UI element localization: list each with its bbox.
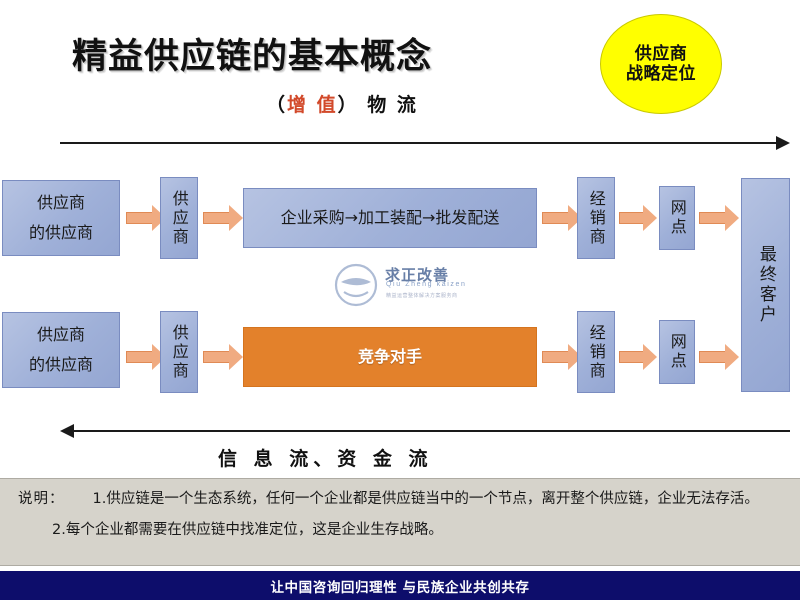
- subtitle-open-paren: （: [266, 94, 287, 116]
- connector-arrow-r2-2: [203, 344, 243, 370]
- connector-arrow-r1-4: [619, 205, 657, 231]
- watermark-tagline: 精益运营整体解决方案服务商: [386, 292, 458, 299]
- note-line-2: 2.每个企业都需要在供应链中找准定位，这是企业生存战略。: [18, 519, 786, 542]
- connector-arrow-tip: [229, 344, 243, 370]
- connector-arrow-body: [619, 351, 644, 363]
- node-competitor: 竞争对手: [243, 327, 537, 387]
- node-supplier-text: 供应商: [170, 190, 188, 247]
- material-flow-arrow-shaft: [60, 142, 778, 144]
- connector-arrow-body: [619, 212, 644, 224]
- node-final-customer: 最终客户: [741, 178, 790, 392]
- node-outlet-2-text: 网点: [668, 333, 686, 371]
- node-supplier: 供应商: [160, 177, 198, 259]
- node-supplier-2: 供应商: [160, 311, 198, 393]
- node-enterprise-process-text: 企业采购→加工装配→批发配送: [281, 206, 500, 231]
- badge-line-1: 供应商: [635, 44, 688, 64]
- node-supplier-of-supplier: 供应商 的供应商: [2, 180, 120, 256]
- node-label-line2: 的供应商: [29, 218, 93, 248]
- node-outlet-text: 网点: [668, 199, 686, 237]
- note-item-1: 1.供应链是一个生态系统，任何一个企业都是供应链当中的一个节点，离开整个供应链，…: [93, 491, 759, 507]
- connector-arrow-r1-2: [203, 205, 243, 231]
- information-flow-label: 信 息 流、资 金 流: [218, 444, 432, 471]
- node-distributor-text: 经销商: [587, 190, 605, 247]
- note-panel: 说明：1.供应链是一个生态系统，任何一个企业都是供应链当中的一个节点，离开整个供…: [0, 478, 800, 566]
- node-distributor: 经销商: [577, 177, 615, 259]
- connector-arrow-body: [126, 212, 153, 224]
- information-flow-arrow: [60, 424, 790, 438]
- kaizen-mark-icon: [333, 262, 379, 308]
- node-supplier-of-supplier-2-text: 供应商 的供应商: [29, 320, 93, 381]
- watermark-brand-en: Qiu Zheng kaizen: [386, 281, 466, 288]
- page-subtitle: （增 值） 物 流: [266, 90, 418, 117]
- information-flow-arrow-head: [60, 424, 74, 438]
- slide-canvas: 精益供应链的基本概念 （增 值） 物 流 供应商 战略定位 供应商 的供应商 供…: [0, 0, 800, 600]
- connector-arrow-tip: [643, 205, 657, 231]
- connector-arrow-body: [699, 212, 726, 224]
- page-title: 精益供应链的基本概念: [72, 28, 432, 79]
- node-outlet-2: 网点: [659, 320, 695, 384]
- connector-arrow-r2-4: [619, 344, 657, 370]
- connector-arrow-body: [699, 351, 726, 363]
- material-flow-arrow: [60, 136, 790, 150]
- information-flow-arrow-shaft: [72, 430, 790, 432]
- footer-text: 让中国咨询回归理性 与民族企业共创共存: [270, 576, 529, 596]
- node-distributor-2: 经销商: [577, 311, 615, 393]
- connector-arrow-body: [203, 212, 230, 224]
- note-line-1: 说明：1.供应链是一个生态系统，任何一个企业都是供应链当中的一个节点，离开整个供…: [18, 488, 786, 511]
- connector-arrow-tip: [725, 344, 739, 370]
- watermark-logo: 求正改善 Qiu Zheng kaizen 精益运营整体解决方案服务商: [333, 262, 473, 310]
- node-enterprise-process: 企业采购→加工装配→批发配送: [243, 188, 537, 248]
- connector-arrow-r1-3: [542, 205, 582, 231]
- node-label-line1: 供应商: [29, 188, 93, 218]
- note-label: 说明：: [18, 491, 65, 507]
- connector-arrow-tip: [643, 344, 657, 370]
- material-flow-arrow-head: [776, 136, 790, 150]
- node-distributor-2-text: 经销商: [587, 324, 605, 381]
- node-competitor-text: 竞争对手: [358, 345, 422, 370]
- connector-arrow-body: [203, 351, 230, 363]
- connector-arrow-body: [542, 212, 569, 224]
- connector-arrow-r1-5: [699, 205, 739, 231]
- connector-arrow-body: [126, 351, 153, 363]
- node-outlet: 网点: [659, 186, 695, 250]
- connector-arrow-r2-5: [699, 344, 739, 370]
- subtitle-close-paren: ）: [338, 94, 359, 116]
- subtitle-rest: 物 流: [367, 94, 418, 116]
- connector-arrow-body: [542, 351, 569, 363]
- node-supplier-of-supplier-text: 供应商 的供应商: [29, 188, 93, 249]
- node-final-customer-text: 最终客户: [756, 245, 775, 325]
- supplier-strategy-badge: 供应商 战略定位: [600, 14, 722, 114]
- footer-bar: 让中国咨询回归理性 与民族企业共创共存: [0, 571, 800, 600]
- node-supplier-of-supplier-2: 供应商 的供应商: [2, 312, 120, 388]
- note-item-2: 2.每个企业都需要在供应链中找准定位，这是企业生存战略。: [52, 522, 443, 538]
- badge-line-2: 战略定位: [626, 64, 696, 84]
- node-label-line2: 的供应商: [29, 350, 93, 380]
- node-supplier-2-text: 供应商: [170, 324, 188, 381]
- connector-arrow-tip: [229, 205, 243, 231]
- connector-arrow-tip: [725, 205, 739, 231]
- connector-arrow-r2-3: [542, 344, 582, 370]
- node-label-line1: 供应商: [29, 320, 93, 350]
- subtitle-highlight: 增 值: [287, 94, 338, 116]
